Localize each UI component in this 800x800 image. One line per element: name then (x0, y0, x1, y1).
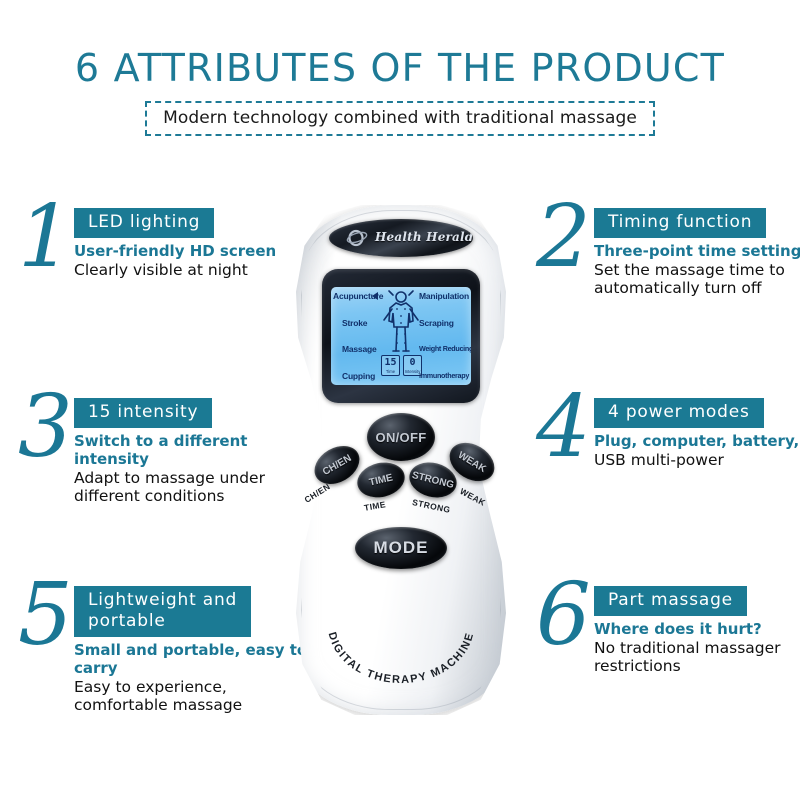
feature-item-3: 3 15 intensity Switch to a different int… (22, 398, 312, 505)
feature-item-6: 6 Part massage Where does it hurt? No tr… (540, 586, 800, 675)
feature-item-5: 5 Lightweight and portable Small and por… (22, 586, 312, 714)
feature-number: 6 (536, 572, 591, 658)
lcd-selection-arrow-icon (372, 292, 378, 300)
feature-item-4: 4 4 power modes Plug, computer, battery,… (540, 398, 800, 469)
human-body-figure-icon (380, 289, 422, 357)
lcd-intensity-readout: 0 Intensity (403, 355, 422, 376)
feature-description: Easy to experience, comfortable massage (74, 678, 312, 714)
feature-title: 4 power modes (594, 398, 764, 428)
feature-number: 3 (18, 384, 73, 470)
lcd-intensity-value: 0 (404, 356, 421, 369)
feature-title: Lightweight and portable (74, 586, 251, 637)
lcd-right-mode-list: Manipulation Scraping Weight Reducing Im… (419, 291, 469, 381)
lcd-time-readout: 15 Time (381, 355, 400, 376)
feature-title: LED lighting (74, 208, 214, 238)
subtitle-box: Modern technology combined with traditio… (145, 101, 655, 136)
feature-description: No traditional massager restrictions (594, 639, 800, 675)
brand-logo-plate: Health Herald (329, 219, 473, 257)
lcd-mode-item: Manipulation (419, 291, 469, 301)
feature-number: 2 (536, 194, 591, 280)
lcd-left-mode-list: Acupuncture Stroke Massage Cupping (333, 291, 383, 381)
feature-title: Timing function (594, 208, 766, 238)
lcd-screen: Acupuncture Stroke Massage Cupping Manip… (331, 287, 471, 385)
power-button[interactable]: ON/OFF (367, 413, 435, 461)
feature-subtitle: Small and portable, easy to carry (74, 641, 312, 677)
lcd-mode-item: Immunotherapy (419, 371, 469, 381)
channel-button-face: CH/EN (321, 452, 353, 477)
lcd-bezel: Acupuncture Stroke Massage Cupping Manip… (322, 269, 480, 403)
lcd-mode-item: Cupping (342, 371, 375, 381)
feature-subtitle: Where does it hurt? (594, 620, 800, 638)
feature-item-1: 1 LED lighting User-friendly HD screen C… (22, 208, 312, 279)
brand-name: Health Herald (375, 230, 473, 244)
feature-subtitle: Plug, computer, battery, (594, 432, 800, 450)
feature-title: 15 intensity (74, 398, 212, 428)
weak-button-face: WEAK (456, 449, 488, 474)
power-button-face: ON/OFF (376, 430, 427, 445)
lcd-intensity-label: Intensity (404, 369, 421, 374)
product-device-image: Health Herald Acupuncture Stroke Massage… (296, 205, 506, 715)
mode-button-face: MODE (374, 538, 429, 558)
lcd-mode-item: Scraping (419, 318, 454, 328)
swirl-logo-icon (345, 226, 369, 250)
feature-subtitle: User-friendly HD screen (74, 242, 312, 260)
feature-description: Adapt to massage under different conditi… (74, 469, 312, 505)
feature-item-2: 2 Timing function Three-point time setti… (540, 208, 800, 297)
feature-subtitle: Switch to a different intensity (74, 432, 312, 468)
feature-subtitle: Three-point time setting (594, 242, 800, 260)
lcd-mode-item: Stroke (342, 318, 367, 328)
device-bottom-text-label: DIGITAL THERAPY MACHINE (326, 631, 477, 686)
feature-title: Part massage (594, 586, 747, 616)
feature-description: USB multi-power (594, 451, 800, 469)
lcd-mode-item: Weight Reducing (419, 344, 471, 354)
feature-description: Clearly visible at night (74, 261, 312, 279)
header: 6 ATTRIBUTES OF THE PRODUCT Modern techn… (0, 0, 800, 136)
feature-number: 4 (536, 384, 591, 470)
strong-button-face: STRONG (411, 469, 455, 490)
lcd-time-value: 15 (382, 356, 399, 369)
lcd-time-label: Time (382, 369, 399, 374)
subtitle-text: Modern technology combined with traditio… (163, 108, 637, 128)
lcd-mode-item: Massage (342, 344, 377, 354)
page-title: 6 ATTRIBUTES OF THE PRODUCT (0, 0, 800, 90)
device-bottom-text: DIGITAL THERAPY MACHINE (318, 605, 484, 695)
feature-number: 1 (18, 194, 73, 280)
feature-description: Set the massage time to automatically tu… (594, 261, 800, 297)
mode-button[interactable]: MODE (355, 527, 447, 569)
feature-number: 5 (18, 572, 73, 658)
time-button-face: TIME (368, 472, 394, 488)
